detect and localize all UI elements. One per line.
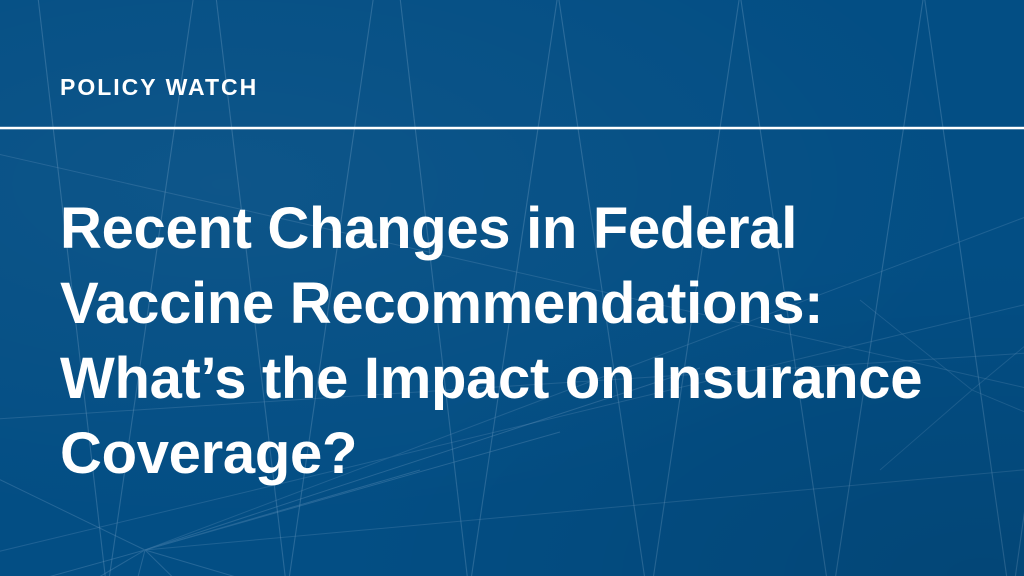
title-line-3: What’s the Impact on Insurance [60,341,980,416]
title-line-4: Coverage? [60,416,980,491]
header-divider-rule [0,127,1024,129]
title-line-2: Vaccine Recommendations: [60,266,980,341]
title-line-1: Recent Changes in Federal [60,191,980,266]
title-card: POLICY WATCH Recent Changes in Federal V… [0,0,1024,576]
eyebrow-label: POLICY WATCH [60,76,258,99]
eyebrow-container: POLICY WATCH [60,76,258,99]
headline-container: Recent Changes in Federal Vaccine Recomm… [60,191,980,491]
page-title: Recent Changes in Federal Vaccine Recomm… [60,191,980,491]
